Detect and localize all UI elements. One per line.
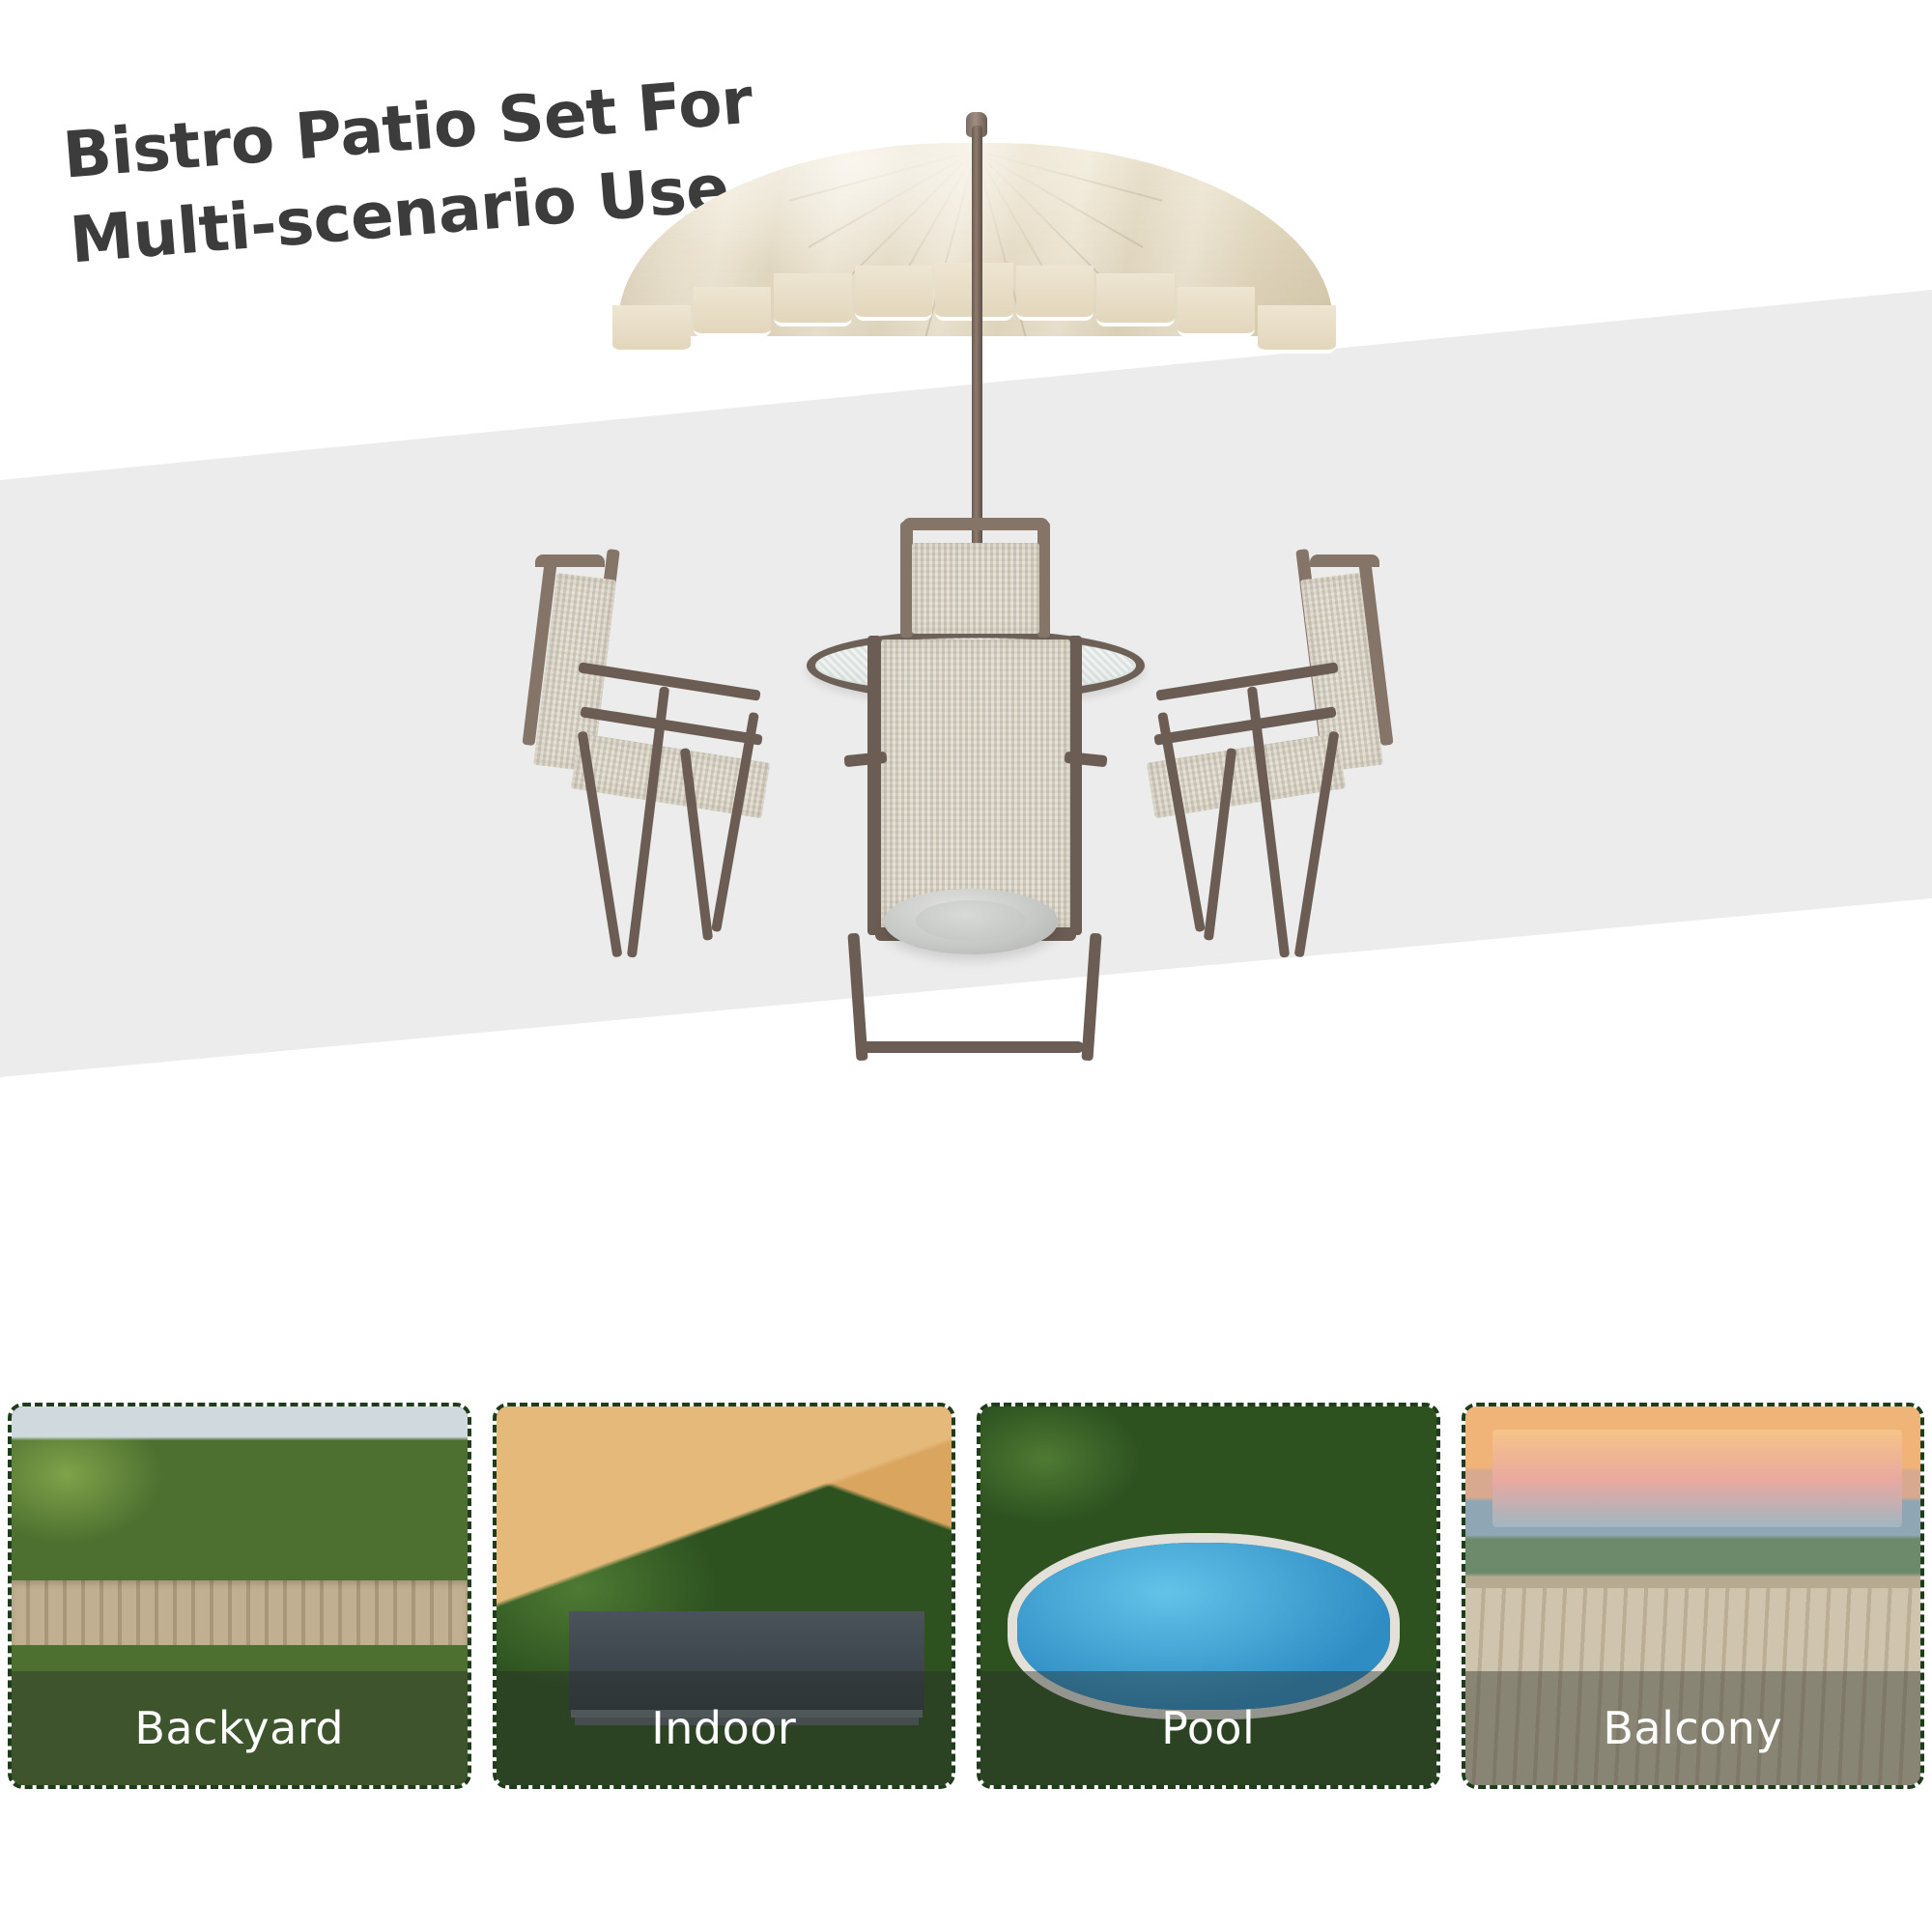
- scenario-caption-bar: Balcony: [1465, 1671, 1921, 1785]
- chair-center: [831, 512, 1121, 1063]
- umbrella-valance-segment: [1258, 305, 1336, 354]
- umbrella-valance-segment: [1178, 287, 1256, 338]
- scenario-label: Pool: [1161, 1702, 1255, 1754]
- scenario-caption-bar: Indoor: [497, 1671, 952, 1785]
- scenario-card-pool[interactable]: Pool: [977, 1403, 1440, 1789]
- scenario-card-balcony[interactable]: Balcony: [1462, 1403, 1925, 1789]
- chair-right: [1140, 541, 1459, 956]
- product-hero-image: [0, 0, 1932, 1101]
- chair-left: [502, 541, 821, 956]
- scenario-caption-bar: Pool: [980, 1671, 1436, 1785]
- scenario-caption-bar: Backyard: [12, 1671, 468, 1785]
- umbrella-base-ridge: [916, 900, 1026, 941]
- scenario-label: Indoor: [651, 1702, 796, 1754]
- balcony-sky: [1492, 1430, 1902, 1528]
- scenario-label: Backyard: [134, 1702, 344, 1754]
- umbrella-valance-segment: [694, 287, 772, 338]
- umbrella-valance-segment: [1096, 273, 1175, 327]
- umbrella-valance-segment: [612, 305, 691, 354]
- umbrella-valance-segment: [1016, 266, 1094, 322]
- patio-umbrella: [618, 116, 1333, 348]
- scenario-card-strip: BackyardIndoorPoolBalcony: [0, 1403, 1932, 1808]
- scenario-label: Balcony: [1603, 1702, 1782, 1754]
- product-marketing-banner: Bistro Patio Set For Multi-scenario Use: [0, 0, 1932, 1932]
- umbrella-valance-segment: [855, 266, 933, 322]
- umbrella-valance-segment: [774, 273, 852, 327]
- scenario-card-backyard[interactable]: Backyard: [8, 1403, 471, 1789]
- scenario-card-indoor[interactable]: Indoor: [493, 1403, 956, 1789]
